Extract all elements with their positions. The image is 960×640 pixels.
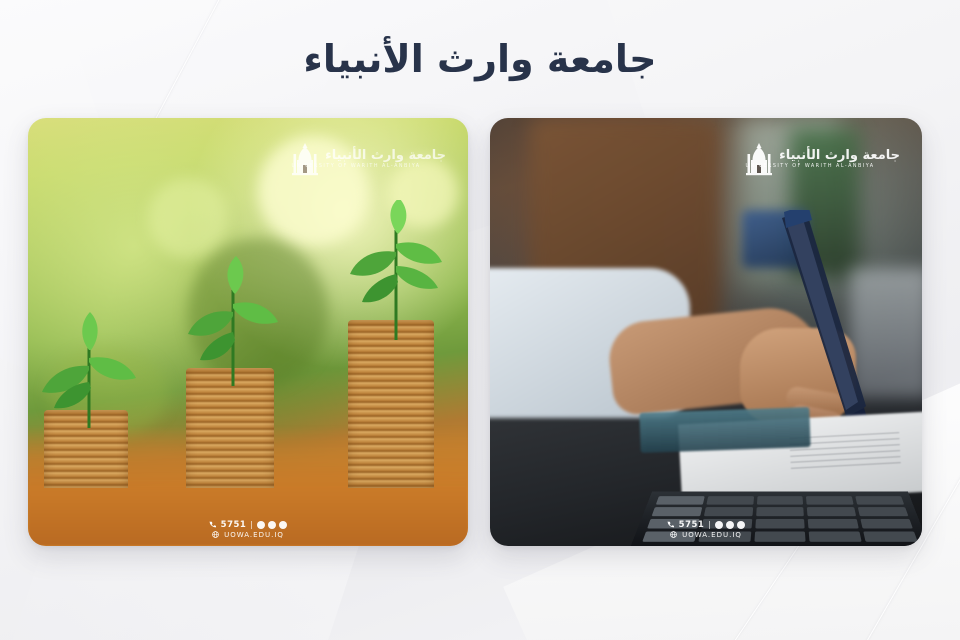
contact-phone-row: 5751 [667,520,746,530]
seedling-small-icon [34,308,144,428]
seedling-medium-icon [178,256,288,386]
website-url[interactable]: UOWA.EDU.IQ [682,531,742,539]
seedling-large-icon [340,200,452,340]
program-card-islamic-finance[interactable]: جامعة وارث الأنبياء UNIVERSITY OF WARITH… [28,118,468,546]
phone-number[interactable]: 5751 [221,520,247,530]
logo-english-text: UNIVERSITY OF WARITH AL-ANBIYA [292,165,421,170]
logo-wordmark: جامعة وارث الأنبياء UNIVERSITY OF WARITH… [779,149,900,169]
contact-phone-row: 5751 [209,520,288,530]
logo-arabic-text: جامعة وارث الأنبياء [779,149,900,162]
card-photo-coins-seedlings [28,118,468,546]
phone-icon [667,521,674,528]
coin-stack-medium [186,368,274,488]
dome-minaret-emblem-icon [746,142,772,176]
telegram-icon[interactable] [737,521,745,529]
card-photo-hand-writing [490,118,922,546]
facebook-icon[interactable] [715,521,723,529]
phone-icon [209,521,216,528]
card-footer-strip: 5751 UOWA.EDU.IQ [490,512,922,546]
coin-stack-large [348,320,434,488]
contact-separator [251,521,252,529]
university-logo: جامعة وارث الأنبياء UNIVERSITY OF WARITH… [292,142,446,176]
contact-info: 5751 UOWA.EDU.IQ [667,520,746,539]
page-title: جامعة وارث الأنبياء [0,36,960,84]
contact-web-row: UOWA.EDU.IQ [212,531,284,539]
social-icons[interactable] [257,521,287,529]
university-logo: جامعة وارث الأنبياء UNIVERSITY OF WARITH… [746,142,900,176]
phone-number[interactable]: 5751 [679,520,705,530]
logo-wordmark: جامعة وارث الأنبياء UNIVERSITY OF WARITH… [325,149,446,169]
contact-web-row: UOWA.EDU.IQ [670,531,742,539]
globe-icon [212,531,219,538]
program-card-accounting[interactable]: جامعة وارث الأنبياء UNIVERSITY OF WARITH… [490,118,922,546]
telegram-icon[interactable] [279,521,287,529]
website-url[interactable]: UOWA.EDU.IQ [224,531,284,539]
instagram-icon[interactable] [726,521,734,529]
card-footer-strip: 5751 UOWA.EDU.IQ [28,512,468,546]
logo-arabic-text: جامعة وارث الأنبياء [325,149,446,162]
instagram-icon[interactable] [268,521,276,529]
contact-info: 5751 UOWA.EDU.IQ [209,520,288,539]
globe-icon [670,531,677,538]
dome-minaret-emblem-icon [292,142,318,176]
facebook-icon[interactable] [257,521,265,529]
contact-separator [709,521,710,529]
bokeh-highlight [148,178,228,258]
logo-english-text: UNIVERSITY OF WARITH AL-ANBIYA [746,165,875,170]
calculator-display [639,407,810,453]
social-icons[interactable] [715,521,745,529]
pen-icon [740,210,890,440]
